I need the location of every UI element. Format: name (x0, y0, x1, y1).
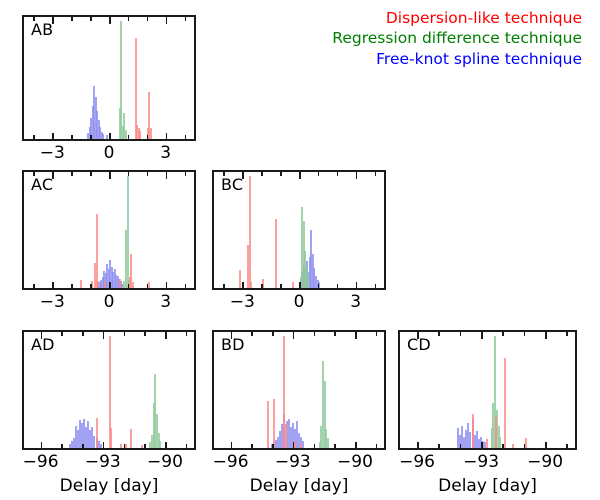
axis-tick (242, 282, 244, 289)
histogram-bar (102, 134, 104, 139)
axis-tick (166, 17, 168, 24)
histogram-bar (120, 444, 122, 448)
xaxis-title-cd: Delay [day] (398, 476, 577, 496)
histogram-bar (495, 417, 497, 448)
axis-tick (375, 284, 377, 288)
xtick-label: 0 (104, 143, 115, 163)
axis-tick (334, 444, 336, 448)
axis-tick (417, 442, 419, 449)
panel-label-ab: AB (31, 20, 53, 39)
axis-tick (147, 284, 149, 288)
xtick-label: 3 (350, 292, 361, 312)
legend: Dispersion-like technique Regression dif… (332, 8, 582, 69)
histogram-bar (150, 128, 152, 139)
axis-tick (223, 284, 225, 288)
histogram-bar (486, 439, 488, 448)
xtick-label: 3 (160, 292, 171, 312)
histogram-bar (135, 38, 137, 139)
histogram-bar (106, 135, 108, 139)
xtick-label: 0 (294, 292, 305, 312)
axis-tick (61, 332, 63, 336)
axis-tick (272, 444, 274, 448)
histogram-figure: Dispersion-like technique Regression dif… (0, 0, 600, 500)
panel-ab: AB (22, 15, 196, 141)
xtick-labels-bd: −96−93−90 (212, 452, 386, 474)
panel-ad: AD (22, 330, 196, 450)
legend-entry-spline: Free-knot spline technique (332, 49, 582, 69)
axis-tick (334, 332, 336, 336)
histogram-bar (100, 444, 102, 448)
histogram-bar (249, 176, 251, 288)
xtick-label: −96 (23, 452, 59, 472)
axis-tick (545, 442, 547, 449)
axis-tick (124, 332, 126, 336)
axis-tick (438, 332, 440, 336)
xtick-labels-ad: −96−93−90 (22, 452, 196, 474)
xaxis-title-bd: Delay [day] (212, 476, 386, 496)
axis-tick (481, 332, 483, 339)
xtick-label: −3 (40, 143, 65, 163)
axis-tick (524, 332, 526, 336)
axis-tick (128, 172, 130, 176)
axis-tick (144, 332, 146, 336)
axis-tick (280, 172, 282, 176)
xtick-label: 3 (160, 143, 171, 163)
axis-tick (61, 444, 63, 448)
xtick-label: 0 (104, 292, 115, 312)
histogram-bar (110, 428, 112, 448)
histogram-bar (307, 277, 309, 288)
axis-tick (460, 444, 462, 448)
histogram-bar (472, 414, 474, 448)
histogram-bar (300, 444, 302, 448)
axis-tick (71, 135, 73, 139)
axis-tick (251, 444, 253, 448)
histogram-bar (127, 176, 129, 288)
axis-tick (280, 284, 282, 288)
axis-tick (251, 332, 253, 336)
axis-tick (481, 442, 483, 449)
histogram-bar (141, 445, 143, 448)
axis-tick (128, 284, 130, 288)
histogram-bar (125, 444, 127, 448)
axis-tick (147, 17, 149, 21)
histogram-bar (96, 418, 98, 448)
histogram-bar (119, 279, 121, 288)
panel-label-bd: BD (221, 335, 245, 354)
axis-tick (71, 172, 73, 176)
axis-tick (299, 172, 301, 179)
xtick-labels-cd: −96−93−90 (398, 452, 577, 474)
axis-tick (109, 172, 111, 179)
axis-tick (41, 442, 43, 449)
histogram-bar (512, 444, 514, 448)
panel-ac: AC (22, 170, 196, 290)
axis-tick (376, 332, 378, 336)
histogram-bar (80, 280, 82, 288)
axis-tick (314, 444, 316, 448)
axis-tick (186, 444, 188, 448)
axis-tick (524, 444, 526, 448)
axis-tick (337, 284, 339, 288)
axis-tick (375, 172, 377, 176)
panel-cd: CD (398, 330, 577, 450)
xaxis-title-ad: Delay [day] (22, 476, 196, 496)
axis-tick (460, 332, 462, 336)
axis-tick (166, 133, 168, 140)
xtick-labels-ac: −303 (22, 292, 196, 314)
histogram-bar (285, 424, 287, 448)
axis-tick (103, 442, 105, 449)
axis-tick (185, 172, 187, 176)
xtick-label: −90 (527, 452, 563, 472)
axis-tick (261, 284, 263, 288)
histogram-bar (275, 219, 277, 288)
histogram-bar (302, 441, 304, 448)
histogram-bar (239, 270, 241, 288)
histogram-bar (132, 282, 134, 288)
axis-tick (261, 172, 263, 176)
xtick-label: −96 (213, 452, 249, 472)
axis-tick (82, 444, 84, 448)
axis-tick (502, 444, 504, 448)
histogram-bar (499, 437, 501, 448)
histogram-bar (504, 358, 506, 448)
axis-tick (33, 284, 35, 288)
histogram-bar (97, 281, 99, 288)
axis-tick (71, 17, 73, 21)
xtick-label: −3 (230, 292, 255, 312)
histogram-bar (292, 282, 294, 288)
histogram-bar (273, 399, 275, 448)
histogram-bar (130, 429, 132, 448)
axis-tick (166, 172, 168, 179)
xtick-labels-bc: −303 (212, 292, 386, 314)
axis-tick (33, 135, 35, 139)
histogram-bar (120, 21, 122, 139)
axis-tick (109, 133, 111, 140)
histogram-bar (267, 401, 269, 448)
axis-tick (52, 133, 54, 140)
panel-label-ac: AC (31, 175, 53, 194)
axis-tick (90, 172, 92, 176)
axis-tick (185, 135, 187, 139)
panel-label-bc: BC (221, 175, 243, 194)
axis-tick (314, 332, 316, 336)
axis-tick (165, 332, 167, 339)
axis-tick (438, 444, 440, 448)
axis-tick (90, 135, 92, 139)
xtick-label: −93 (463, 452, 499, 472)
axis-tick (318, 284, 320, 288)
axis-tick (566, 332, 568, 336)
axis-tick (144, 444, 146, 448)
histogram-bar (125, 130, 127, 139)
axis-tick (82, 332, 84, 336)
xtick-label: −93 (85, 452, 121, 472)
histogram-bar (159, 441, 161, 448)
axis-tick (355, 332, 357, 339)
axis-tick (90, 17, 92, 21)
axis-tick (165, 442, 167, 449)
axis-tick (71, 284, 73, 288)
axis-tick (376, 444, 378, 448)
xtick-label: −3 (40, 292, 65, 312)
axis-tick (124, 444, 126, 448)
histogram-bar (327, 438, 329, 448)
axis-tick (147, 172, 149, 176)
legend-entry-regression: Regression difference technique (332, 28, 582, 48)
axis-tick (52, 282, 54, 289)
axis-tick (293, 332, 295, 339)
axis-tick (128, 135, 130, 139)
panel-bc: BC (212, 170, 386, 290)
axis-tick (566, 444, 568, 448)
axis-tick (545, 332, 547, 339)
axis-tick (272, 332, 274, 336)
axis-tick (166, 282, 168, 289)
axis-tick (109, 282, 111, 289)
axis-tick (90, 284, 92, 288)
axis-tick (185, 284, 187, 288)
histogram-bar (250, 282, 252, 288)
histogram-bar (139, 131, 141, 139)
axis-tick (293, 442, 295, 449)
xtick-label: −93 (275, 452, 311, 472)
axis-tick (356, 172, 358, 179)
histogram-bar (104, 282, 106, 288)
xtick-label: −96 (399, 452, 435, 472)
panel-label-cd: CD (407, 335, 431, 354)
axis-tick (103, 332, 105, 339)
xtick-labels-ab: −303 (22, 143, 196, 165)
xtick-label: −90 (337, 452, 373, 472)
histogram-bar (96, 214, 98, 288)
axis-tick (128, 17, 130, 21)
axis-tick (186, 332, 188, 336)
axis-tick (355, 442, 357, 449)
axis-tick (502, 332, 504, 336)
axis-tick (299, 282, 301, 289)
axis-tick (231, 442, 233, 449)
legend-entry-dispersion: Dispersion-like technique (332, 8, 582, 28)
axis-tick (185, 17, 187, 21)
axis-tick (318, 172, 320, 176)
panel-bd: BD (212, 330, 386, 450)
axis-tick (109, 17, 111, 24)
xtick-label: −90 (147, 452, 183, 472)
axis-tick (147, 135, 149, 139)
axis-tick (356, 282, 358, 289)
panel-label-ad: AD (31, 335, 55, 354)
axis-tick (337, 172, 339, 176)
